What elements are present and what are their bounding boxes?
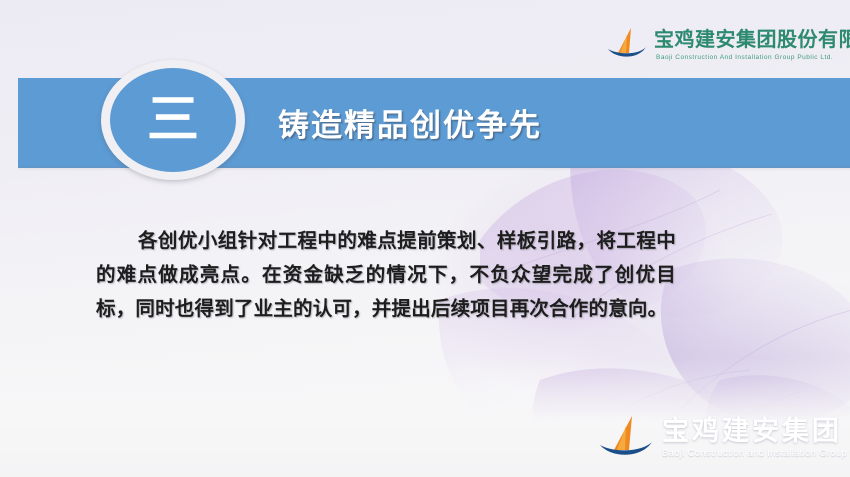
company-mark-icon-bottom bbox=[598, 414, 654, 462]
company-name-en-bottom: Baoji Construction and Installation Grou… bbox=[662, 448, 850, 459]
badge-number-label: 三 bbox=[147, 94, 199, 146]
body-paragraph: 各创优小组针对工程中的难点提前策划、样板引路，将工程中的难点做成亮点。在资金缺乏… bbox=[96, 224, 676, 326]
company-name-cn-bottom: 宝鸡建安集团 bbox=[662, 417, 850, 447]
company-mark-icon bbox=[606, 26, 648, 62]
page-title: 铸造精品创优争先 bbox=[278, 100, 542, 145]
section-number-badge: 三 bbox=[101, 60, 245, 180]
badge-inner-circle: 三 bbox=[110, 68, 236, 172]
slide: 宝鸡建安集团股份有限公司 Baoji Construction And Inst… bbox=[0, 0, 850, 477]
company-logo-bottom: 宝鸡建安集团 Baoji Construction and Installati… bbox=[598, 414, 850, 462]
company-logo-top: 宝鸡建安集团股份有限公司 Baoji Construction And Inst… bbox=[606, 26, 850, 62]
company-name-cn: 宝鸡建安集团股份有限公司 bbox=[654, 28, 850, 51]
company-name-en: Baoji Construction And Installation Grou… bbox=[656, 54, 850, 61]
